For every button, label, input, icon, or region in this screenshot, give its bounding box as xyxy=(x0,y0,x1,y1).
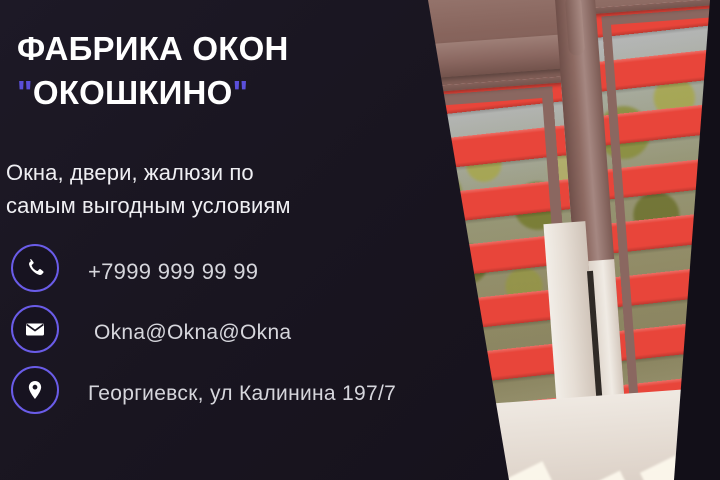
map-pin-icon xyxy=(11,366,59,414)
contact-row-phone[interactable]: +7999 999 99 99 xyxy=(0,241,430,302)
page-title: ФАБРИКА ОКОН "ОКОШКИНО" xyxy=(17,27,417,115)
content-area: ФАБРИКА ОКОН "ОКОШКИНО" Окна, двери, жал… xyxy=(0,0,430,480)
contact-list: +7999 999 99 99 Okna@Okna@Okna xyxy=(0,241,430,424)
quote-close: " xyxy=(232,74,248,111)
contact-phone-label: +7999 999 99 99 xyxy=(88,259,258,285)
subtitle: Окна, двери, жалюзи по самым выгодным ус… xyxy=(6,156,426,223)
advertisement-poster: ФАБРИКА ОКОН "ОКОШКИНО" Окна, двери, жал… xyxy=(0,0,720,480)
envelope-icon xyxy=(11,305,59,353)
subtitle-line-2: самым выгодным условиям xyxy=(6,193,291,218)
sun-patch xyxy=(570,471,629,480)
contact-row-address[interactable]: Георгиевск, ул Калинина 197/7 xyxy=(0,363,430,424)
title-line-2: "ОКОШКИНО" xyxy=(17,71,417,115)
contact-row-email[interactable]: Okna@Okna@Okna xyxy=(0,302,430,363)
phone-icon xyxy=(11,244,59,292)
contact-address-label: Георгиевск, ул Калинина 197/7 xyxy=(88,382,396,406)
subtitle-line-1: Окна, двери, жалюзи по xyxy=(6,160,254,185)
title-line-1: ФАБРИКА ОКОН xyxy=(17,30,288,67)
contact-email-label: Okna@Okna@Okna xyxy=(94,321,291,345)
quote-open: " xyxy=(17,74,33,111)
brand-name: ОКОШКИНО xyxy=(33,74,233,111)
